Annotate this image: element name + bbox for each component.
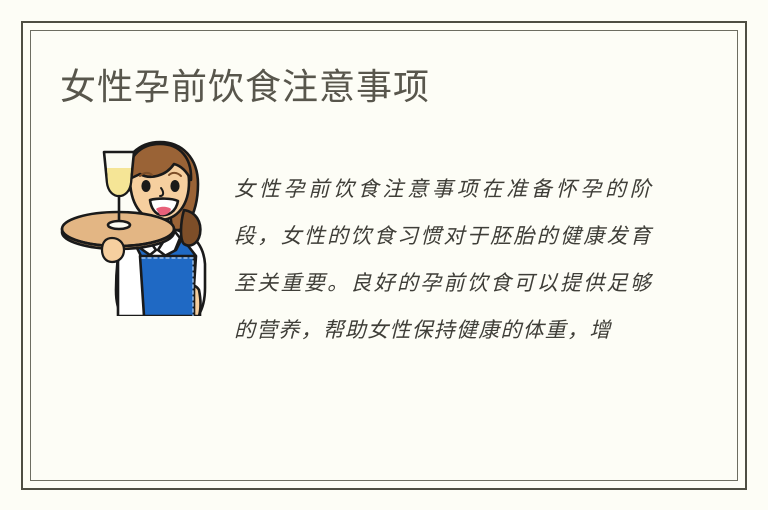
waitress-with-tray-illustration: [56, 138, 214, 316]
article-body-text: 女性孕前饮食注意事项在准备怀孕的阶段，女性的饮食习惯对于胚胎的健康发育至关重要。…: [234, 166, 652, 354]
page-title: 女性孕前饮食注意事项: [60, 64, 430, 110]
document-page: 女性孕前饮食注意事项: [0, 0, 768, 510]
